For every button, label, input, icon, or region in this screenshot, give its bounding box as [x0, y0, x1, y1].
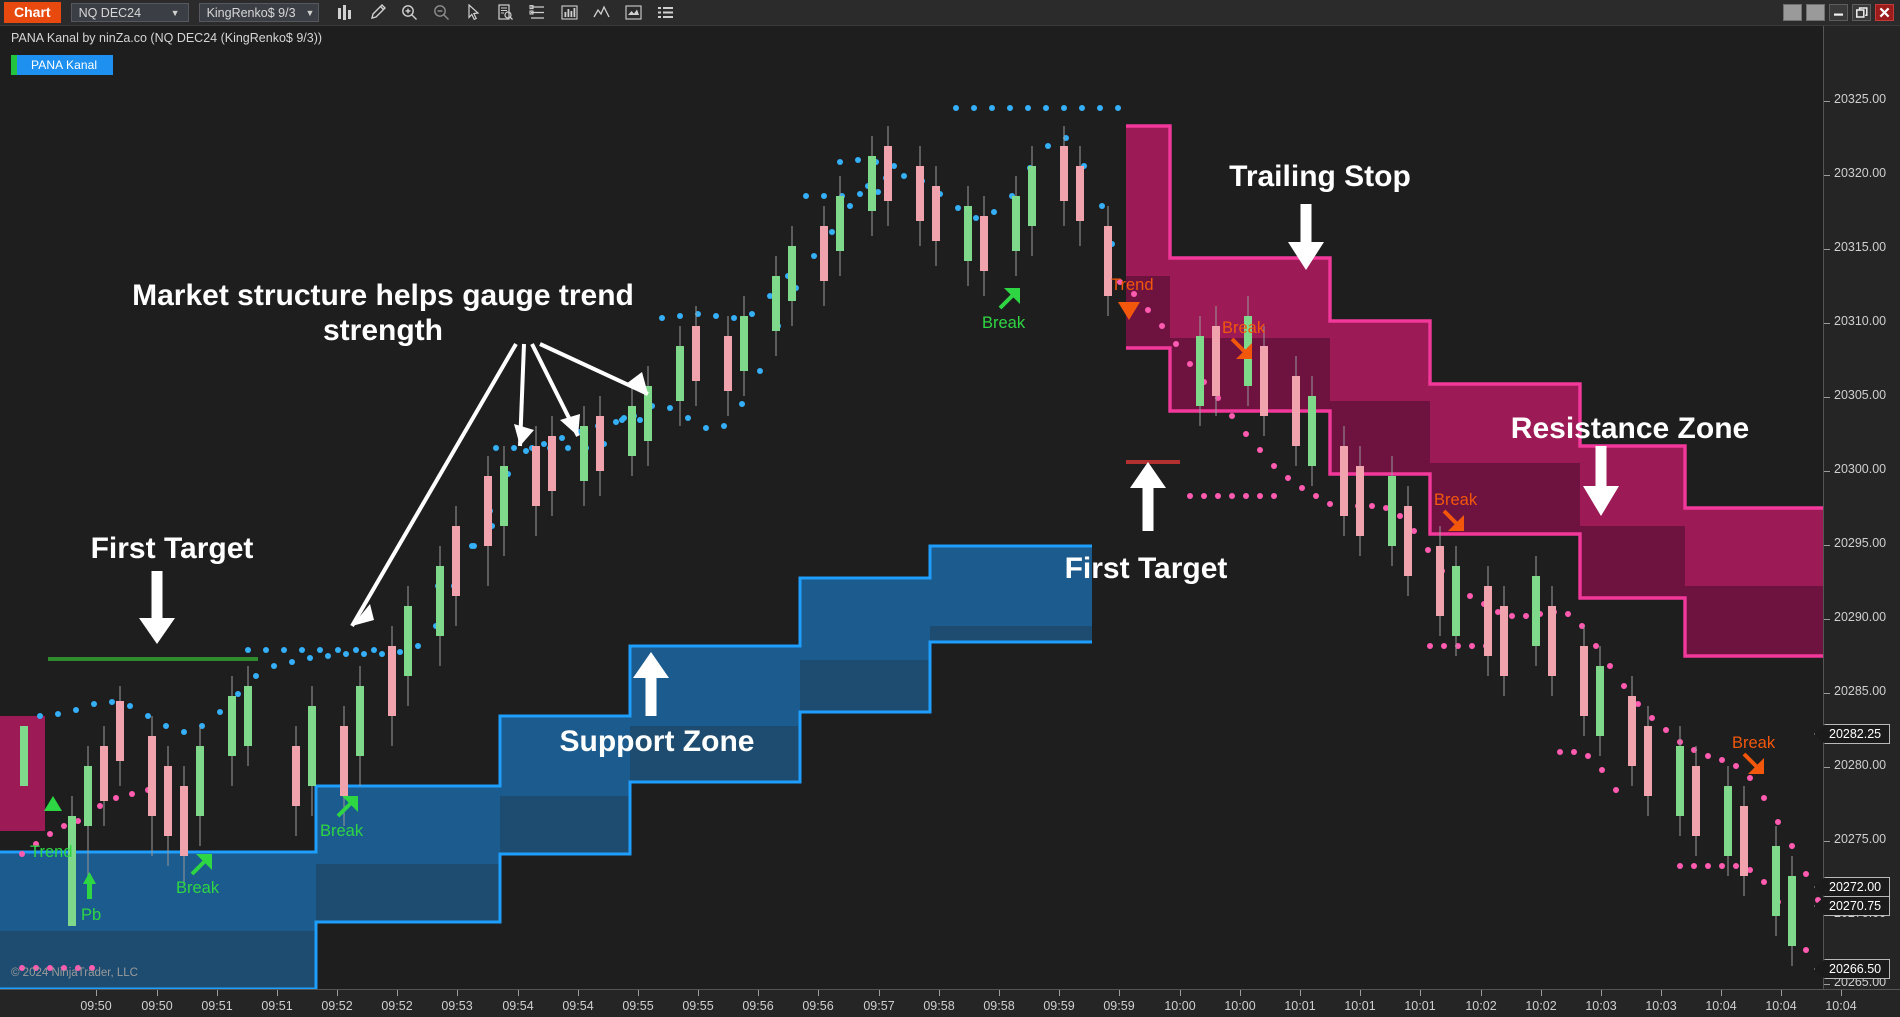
annotation-support-zone: Support Zone: [532, 724, 782, 759]
legend-label: PANA Kanal: [17, 55, 113, 75]
tag-break-bull-3: Break: [982, 314, 1025, 333]
price-tick-label: 20320.00: [1834, 166, 1886, 180]
price-badge-lower[interactable]: 20266.50: [1814, 959, 1890, 979]
tick-mark: [277, 990, 278, 996]
price-tick: 20305.00: [1824, 397, 1900, 398]
tick-mark: [1661, 990, 1662, 996]
time-axis[interactable]: 09:50 09:50 09:51 09:51 09:52 09:52 09:5…: [0, 989, 1900, 1017]
time-tick-label: 10:00: [1224, 999, 1255, 1013]
tick-mark: [698, 990, 699, 996]
candle-series: [20, 126, 1796, 966]
price-badge-last[interactable]: 20282.25: [1814, 724, 1890, 744]
window-controls: [1783, 4, 1900, 21]
time-tick-label: 10:04: [1705, 999, 1736, 1013]
tick-mark: [1824, 323, 1830, 324]
price-tick-label: 20310.00: [1834, 314, 1886, 328]
time-tick-label: 10:01: [1284, 999, 1315, 1013]
time-tick-label: 10:02: [1465, 999, 1496, 1013]
tick-mark: [1721, 990, 1722, 996]
properties-icon[interactable]: [529, 4, 547, 22]
plot-svg: [0, 26, 1823, 989]
tag-pb-bull: Pb: [81, 906, 101, 925]
price-badge-upper[interactable]: 20272.00: [1814, 877, 1890, 897]
tick-mark: [1824, 397, 1830, 398]
chart-area[interactable]: PANA Kanal by ninZa.co (NQ DEC24 (KingRe…: [0, 26, 1900, 989]
arrow-first-target-right: [1130, 462, 1166, 531]
tick-mark: [1824, 101, 1830, 102]
tick-mark: [1300, 990, 1301, 996]
chart-tab[interactable]: Chart: [4, 2, 61, 23]
time-tick-label: 09:57: [863, 999, 894, 1013]
tick-mark: [638, 990, 639, 996]
share-icon[interactable]: [625, 4, 643, 22]
toolbar: Chart NQ DEC24 ▼ KingRenko$ 9/3 ▼: [0, 0, 1900, 26]
tick-mark: [337, 990, 338, 996]
indicator-legend-badge[interactable]: PANA Kanal: [11, 55, 113, 75]
tick-mark: [1824, 767, 1830, 768]
tick-mark: [1824, 471, 1830, 472]
copyright-text: © 2024 NinjaTrader, LLC: [11, 967, 138, 979]
time-tick-label: 09:58: [983, 999, 1014, 1013]
time-tick-label: 09:59: [1043, 999, 1074, 1013]
price-tick-label: 20325.00: [1834, 92, 1886, 106]
tag-break-bear-1: Break: [1222, 319, 1265, 338]
price-tick: 20280.00: [1824, 767, 1900, 768]
price-tick-label: 20305.00: [1834, 388, 1886, 402]
tick-mark: [999, 990, 1000, 996]
tick-mark: [758, 990, 759, 996]
badge-pointer-icon: [1814, 896, 1825, 916]
price-badge-current[interactable]: 20270.75: [1814, 896, 1890, 916]
cursor-pointer-icon[interactable]: [465, 4, 483, 22]
chevron-down-icon[interactable]: ▼: [161, 4, 186, 21]
price-tick-label: 20315.00: [1834, 240, 1886, 254]
close-button[interactable]: [1875, 4, 1894, 21]
time-tick-label: 09:52: [381, 999, 412, 1013]
tag-break-bull-1: Break: [176, 879, 219, 898]
price-badge-label: 20266.50: [1825, 959, 1890, 979]
zoom-in-icon[interactable]: [401, 4, 419, 22]
time-tick-label: 10:01: [1344, 999, 1375, 1013]
price-tick: 20295.00: [1824, 545, 1900, 546]
interval-selector[interactable]: KingRenko$ 9/3 ▼: [199, 3, 319, 22]
annotation-resistance-zone: Resistance Zone: [1480, 411, 1780, 446]
symbol-value: NQ DEC24: [79, 6, 142, 20]
time-tick-label: 10:02: [1525, 999, 1556, 1013]
tick-mark: [397, 990, 398, 996]
price-tick: 20300.00: [1824, 471, 1900, 472]
price-tick: 20325.00: [1824, 101, 1900, 102]
indicators-icon[interactable]: [561, 4, 579, 22]
minimize-button[interactable]: [1829, 4, 1848, 21]
time-tick-label: 09:53: [441, 999, 472, 1013]
strategies-icon[interactable]: [593, 4, 611, 22]
tick-mark: [1240, 990, 1241, 996]
chevron-down-icon[interactable]: ▼: [296, 4, 321, 21]
tick-mark: [1119, 990, 1120, 996]
data-box-icon[interactable]: [497, 4, 515, 22]
symbol-selector[interactable]: NQ DEC24 ▼: [71, 3, 189, 22]
candle-bodies: [20, 146, 1796, 946]
price-tick: 20285.00: [1824, 693, 1900, 694]
price-tick-label: 20280.00: [1834, 758, 1886, 772]
time-tick-label: 10:03: [1645, 999, 1676, 1013]
price-tick-label: 20300.00: [1834, 462, 1886, 476]
tick-mark: [1360, 990, 1361, 996]
price-plot[interactable]: Trend Pb Break Break Break Trend Break B…: [0, 26, 1823, 989]
time-tick-label: 09:55: [682, 999, 713, 1013]
tag-break-bear-2: Break: [1434, 491, 1477, 510]
tick-mark: [1824, 984, 1830, 985]
time-tick-label: 09:55: [622, 999, 653, 1013]
annotation-trailing-stop: Trailing Stop: [1205, 159, 1435, 194]
tick-mark: [1180, 990, 1181, 996]
tick-mark: [1541, 990, 1542, 996]
arrow-first-target-left: [139, 571, 175, 644]
pencil-draw-icon[interactable]: [369, 4, 387, 22]
tag-trend-bull: Trend: [30, 843, 73, 862]
price-badge-label: 20282.25: [1825, 724, 1890, 744]
zoom-out-icon[interactable]: [433, 4, 451, 22]
tick-mark: [96, 990, 97, 996]
price-tick-label: 20275.00: [1834, 832, 1886, 846]
price-tick: 20320.00: [1824, 175, 1900, 176]
tick-mark: [1824, 693, 1830, 694]
time-tick-label: 10:03: [1585, 999, 1616, 1013]
time-tick-label: 09:51: [261, 999, 292, 1013]
time-tick-label: 09:50: [141, 999, 172, 1013]
time-tick-label: 09:59: [1103, 999, 1134, 1013]
time-tick-label: 09:51: [201, 999, 232, 1013]
time-tick-label: 09:56: [802, 999, 833, 1013]
tick-mark: [217, 990, 218, 996]
price-tick: 20310.00: [1824, 323, 1900, 324]
time-tick-label: 10:01: [1404, 999, 1435, 1013]
list-icon[interactable]: [657, 4, 675, 22]
price-tick: 20290.00: [1824, 619, 1900, 620]
time-tick-label: 09:56: [742, 999, 773, 1013]
price-tick-label: 20285.00: [1834, 684, 1886, 698]
price-tick-label: 20295.00: [1834, 536, 1886, 550]
time-tick-label: 10:00: [1164, 999, 1195, 1013]
price-tick-label: 20290.00: [1834, 610, 1886, 624]
tick-mark: [1824, 545, 1830, 546]
tick-mark: [1481, 990, 1482, 996]
tag-break-bull-2: Break: [320, 822, 363, 841]
tick-mark: [1824, 841, 1830, 842]
tick-mark: [1824, 175, 1830, 176]
price-tick: 20315.00: [1824, 249, 1900, 250]
interval-value: KingRenko$ 9/3: [207, 6, 296, 20]
annotation-first-target-left: First Target: [62, 531, 282, 566]
tick-mark: [1841, 990, 1842, 996]
time-tick-label: 09:54: [562, 999, 593, 1013]
tag-break-bear-3: Break: [1732, 734, 1775, 753]
tick-mark: [457, 990, 458, 996]
price-tick: 20275.00: [1824, 841, 1900, 842]
tag-trend-bear: Trend: [1111, 276, 1154, 295]
price-badge-label: 20272.00: [1825, 877, 1890, 897]
time-tick-label: 09:58: [923, 999, 954, 1013]
tick-mark: [578, 990, 579, 996]
window-blank-button-2[interactable]: [1806, 4, 1825, 21]
time-tick-label: 10:04: [1825, 999, 1856, 1013]
tick-mark: [1824, 249, 1830, 250]
price-axis[interactable]: 20325.00 20320.00 20315.00 20310.00 2030…: [1823, 26, 1900, 989]
tick-mark: [1781, 990, 1782, 996]
price-tick: 20265.00: [1824, 984, 1900, 985]
time-tick-label: 10:04: [1765, 999, 1796, 1013]
tick-mark: [818, 990, 819, 996]
toolbar-icon-group: [337, 4, 675, 22]
tick-mark: [1824, 619, 1830, 620]
indicator-title: PANA Kanal by ninZa.co (NQ DEC24 (KingRe…: [11, 31, 322, 45]
tick-mark: [1059, 990, 1060, 996]
restore-button[interactable]: [1852, 4, 1871, 21]
tick-mark: [518, 990, 519, 996]
tick-mark: [1420, 990, 1421, 996]
price-badge-label: 20270.75: [1825, 896, 1890, 916]
bar-chart-icon[interactable]: [337, 4, 355, 22]
tick-mark: [157, 990, 158, 996]
tick-mark: [1601, 990, 1602, 996]
tick-mark: [879, 990, 880, 996]
time-tick-label: 09:50: [80, 999, 111, 1013]
annotation-first-target-right: First Target: [1041, 551, 1251, 586]
tick-mark: [939, 990, 940, 996]
time-tick-label: 09:54: [502, 999, 533, 1013]
marker-trend-bull-triangle: [44, 796, 62, 811]
badge-pointer-icon: [1814, 959, 1825, 979]
badge-pointer-icon: [1814, 724, 1825, 744]
badge-pointer-icon: [1814, 877, 1825, 897]
window-blank-button-1[interactable]: [1783, 4, 1802, 21]
time-tick-label: 09:52: [321, 999, 352, 1013]
annotation-market-structure: Market structure helps gauge trend stren…: [53, 278, 713, 349]
